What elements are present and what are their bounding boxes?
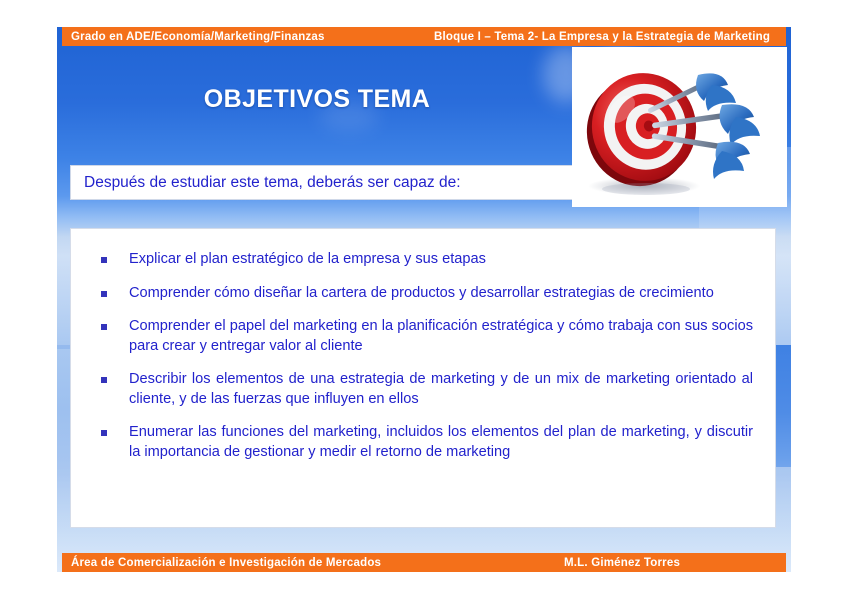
bullet-square-icon [101,324,107,330]
dartboard-illustration [572,47,787,207]
objectives-box: Explicar el plan estratégico de la empre… [70,228,776,528]
slide-footer-bar: Área de Comercialización e Investigación… [62,553,786,572]
header-course-label: Grado en ADE/Economía/Marketing/Finanzas [71,31,325,43]
list-item: Comprender el papel del marketing en la … [95,317,753,356]
list-item-label: Describir los elementos de una estrategi… [129,370,753,409]
bullet-square-icon [101,291,107,297]
list-item-label: Comprender el papel del marketing en la … [129,317,753,356]
presentation-slide: Grado en ADE/Economía/Marketing/Finanzas… [57,27,791,572]
page-title: OBJETIVOS TEMA [57,85,577,114]
bullet-square-icon [101,257,107,263]
footer-author-label: M.L. Giménez Torres [564,557,680,569]
list-item-label: Explicar el plan estratégico de la empre… [129,250,753,270]
list-item-label: Enumerar las funciones del marketing, in… [129,423,753,462]
footer-department-label: Área de Comercialización e Investigación… [71,557,381,569]
list-item: Enumerar las funciones del marketing, in… [95,423,753,462]
dartboard-with-darts-image [572,47,787,207]
list-item-label: Comprender cómo diseñar la cartera de pr… [129,284,753,304]
header-topic-label: Bloque I – Tema 2- La Empresa y la Estra… [434,31,770,43]
list-item: Describir los elementos de una estrategi… [95,370,753,409]
list-item: Explicar el plan estratégico de la empre… [95,250,753,270]
bullet-square-icon [101,377,107,383]
list-item: Comprender cómo diseñar la cartera de pr… [95,284,753,304]
subtitle-text: Después de estudiar este tema, deberás s… [84,174,461,192]
slide-header-bar: Grado en ADE/Economía/Marketing/Finanzas… [62,27,786,46]
subtitle-box: Después de estudiar este tema, deberás s… [70,165,581,200]
objectives-list: Explicar el plan estratégico de la empre… [71,229,775,462]
bullet-square-icon [101,430,107,436]
